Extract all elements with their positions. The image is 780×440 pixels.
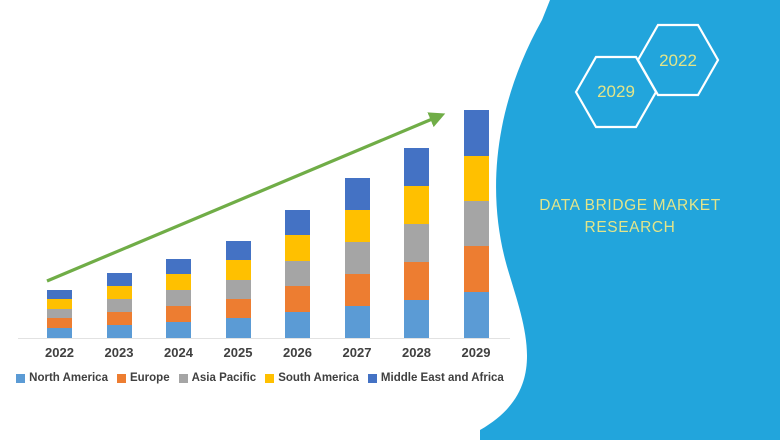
bar-segment-2024-europe[interactable] — [166, 306, 191, 322]
bar-segment-2025-south-america[interactable] — [226, 260, 251, 280]
bar-segment-2028-north-america[interactable] — [404, 300, 429, 338]
x-axis-label-2025: 2025 — [208, 345, 268, 360]
legend-swatch-icon — [368, 374, 377, 383]
legend-swatch-icon — [265, 374, 274, 383]
brand-title-line1: DATA BRIDGE MARKET — [480, 195, 780, 217]
bar-segment-2028-europe[interactable] — [404, 262, 429, 300]
bar-segment-2024-north-america[interactable] — [166, 322, 191, 338]
bar-2022[interactable] — [47, 290, 72, 338]
bar-segment-2024-middle-east-and-africa[interactable] — [166, 259, 191, 274]
bar-segment-2027-middle-east-and-africa[interactable] — [345, 178, 370, 210]
hexagon-2022-label: 2022 — [659, 51, 697, 70]
legend-item-asia-pacific[interactable]: Asia Pacific — [179, 372, 257, 384]
legend-label: South America — [278, 372, 359, 384]
bar-series-layer — [0, 0, 520, 338]
bar-segment-2026-north-america[interactable] — [285, 312, 310, 338]
x-axis-label-2022: 2022 — [30, 345, 90, 360]
x-axis-label-2023: 2023 — [89, 345, 149, 360]
legend-swatch-icon — [179, 374, 188, 383]
bar-segment-2022-south-america[interactable] — [47, 299, 72, 309]
bar-segment-2026-asia-pacific[interactable] — [285, 261, 310, 286]
bar-2028[interactable] — [404, 148, 429, 338]
bar-segment-2028-asia-pacific[interactable] — [404, 224, 429, 262]
bar-segment-2026-south-america[interactable] — [285, 235, 310, 261]
bar-2026[interactable] — [285, 210, 310, 338]
bar-segment-2027-south-america[interactable] — [345, 210, 370, 242]
legend-item-south-america[interactable]: South America — [265, 372, 359, 384]
plot-area — [0, 0, 520, 345]
x-axis-label-2024: 2024 — [149, 345, 209, 360]
bar-segment-2024-asia-pacific[interactable] — [166, 290, 191, 306]
bar-segment-2022-europe[interactable] — [47, 318, 72, 328]
brand-title: DATA BRIDGE MARKET RESEARCH — [480, 195, 780, 239]
bar-segment-2025-middle-east-and-africa[interactable] — [226, 241, 251, 260]
bar-segment-2025-europe[interactable] — [226, 299, 251, 318]
chart-screenshot: 20222023202420252026202720282029 North A… — [0, 0, 780, 440]
bar-segment-2022-north-america[interactable] — [47, 328, 72, 338]
legend-label: North America — [29, 372, 108, 384]
x-axis-label-2027: 2027 — [327, 345, 387, 360]
x-axis-label-2028: 2028 — [387, 345, 447, 360]
bar-segment-2026-europe[interactable] — [285, 286, 310, 312]
bar-segment-2023-south-america[interactable] — [107, 286, 132, 299]
bar-segment-2025-asia-pacific[interactable] — [226, 280, 251, 299]
hexagon-group: 2029 2022 — [480, 0, 780, 200]
brand-title-line2: RESEARCH — [480, 217, 780, 239]
legend-item-north-america[interactable]: North America — [16, 372, 108, 384]
bar-segment-2023-middle-east-and-africa[interactable] — [107, 273, 132, 286]
chart-legend: North AmericaEuropeAsia PacificSouth Ame… — [0, 372, 520, 384]
bar-segment-2027-asia-pacific[interactable] — [345, 242, 370, 274]
brand-panel: 2029 2022 DATA BRIDGE MARKET RESEARCH — [480, 0, 780, 440]
legend-label: Asia Pacific — [192, 372, 257, 384]
x-axis-line — [18, 338, 510, 339]
bar-segment-2025-north-america[interactable] — [226, 318, 251, 338]
bar-segment-2026-middle-east-and-africa[interactable] — [285, 210, 310, 235]
x-axis-label-2026: 2026 — [268, 345, 328, 360]
x-axis-labels: 20222023202420252026202720282029 — [0, 345, 520, 367]
bar-2023[interactable] — [107, 273, 132, 338]
bar-segment-2024-south-america[interactable] — [166, 274, 191, 290]
bar-segment-2023-europe[interactable] — [107, 312, 132, 325]
bar-segment-2027-europe[interactable] — [345, 274, 370, 306]
bar-2027[interactable] — [345, 178, 370, 338]
bar-2025[interactable] — [226, 241, 251, 338]
legend-swatch-icon — [16, 374, 25, 383]
bar-segment-2027-north-america[interactable] — [345, 306, 370, 338]
bar-segment-2022-asia-pacific[interactable] — [47, 309, 72, 318]
hexagon-2029-label: 2029 — [597, 82, 635, 101]
bar-segment-2023-asia-pacific[interactable] — [107, 299, 132, 312]
bar-2024[interactable] — [166, 259, 191, 338]
bar-segment-2028-south-america[interactable] — [404, 186, 429, 224]
legend-item-europe[interactable]: Europe — [117, 372, 170, 384]
chart-container: 20222023202420252026202720282029 North A… — [0, 0, 520, 440]
bar-segment-2023-north-america[interactable] — [107, 325, 132, 338]
bar-segment-2022-middle-east-and-africa[interactable] — [47, 290, 72, 299]
legend-swatch-icon — [117, 374, 126, 383]
bar-segment-2028-middle-east-and-africa[interactable] — [404, 148, 429, 186]
legend-label: Europe — [130, 372, 170, 384]
